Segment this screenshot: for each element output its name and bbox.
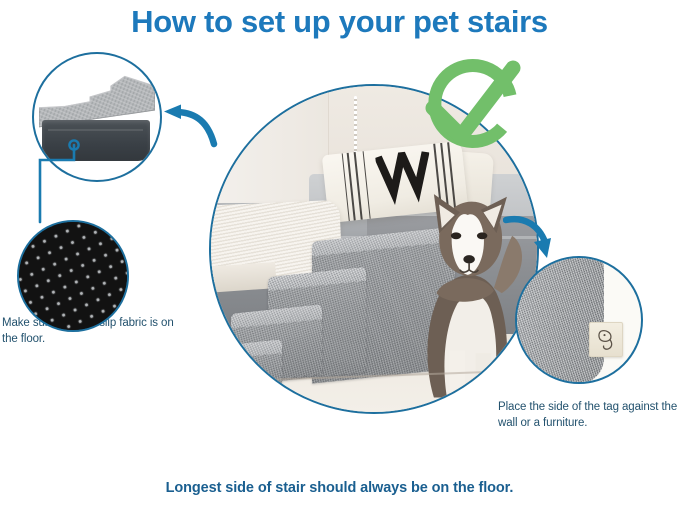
curved-arrow-down-right-icon [503, 214, 559, 264]
callout-connector-line [0, 0, 679, 507]
curved-arrow-left-icon [162, 104, 218, 148]
green-check-circle-icon [413, 58, 523, 168]
